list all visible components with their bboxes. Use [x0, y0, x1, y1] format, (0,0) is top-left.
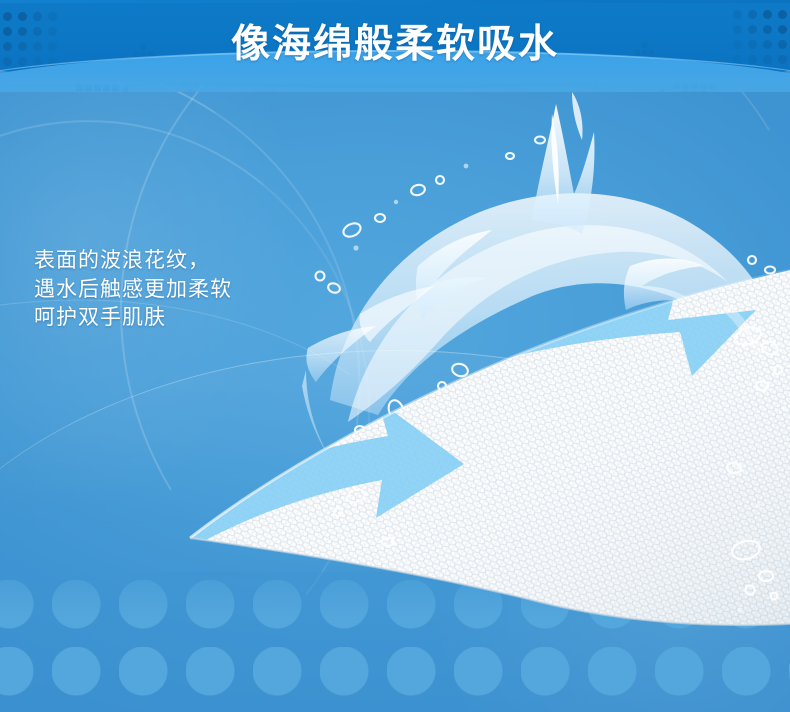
- banner-title: 像海绵般柔软吸水: [0, 22, 790, 68]
- banner-top-rule: [0, 0, 790, 3]
- description-line-2: 遇水后触感更加柔软: [34, 276, 232, 305]
- promo-banner-page: 像海绵般柔软吸水 表面的波浪花纹， 遇水后触感更加柔软 呵护双手肌肤: [0, 0, 790, 712]
- water-droplets-graphic: [650, 300, 790, 640]
- feature-description: 表面的波浪花纹， 遇水后触感更加柔软 呵护双手肌肤: [34, 247, 232, 333]
- description-line-3: 呵护双手肌肤: [34, 304, 232, 333]
- description-line-1: 表面的波浪花纹，: [34, 247, 232, 276]
